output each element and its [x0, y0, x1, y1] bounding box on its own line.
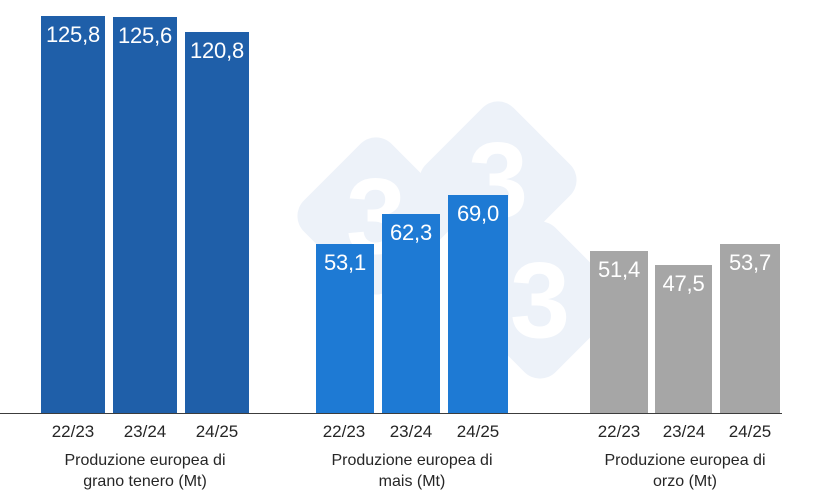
- bar-group-mais: 53,1 62,3 69,0: [316, 0, 508, 414]
- bar-value-label: 125,6: [113, 23, 177, 49]
- tick-label: 23/24: [113, 420, 177, 444]
- x-axis-line: [0, 413, 782, 414]
- bar-chart: 3 3 3 125,8 125,6 120,8 53,1 62,3: [0, 0, 820, 496]
- bar[interactable]: 47,5: [655, 265, 712, 414]
- group-caption-grano-tenero: Produzione europea di grano tenero (Mt): [25, 450, 265, 492]
- bar[interactable]: 53,1: [316, 244, 374, 414]
- bar-value-label: 47,5: [655, 271, 712, 297]
- bar[interactable]: 125,6: [113, 17, 177, 414]
- tick-label: 22/23: [587, 420, 651, 444]
- bar-value-label: 62,3: [382, 220, 440, 246]
- bar[interactable]: 120,8: [185, 32, 249, 414]
- tick-label: 22/23: [312, 420, 376, 444]
- bar-group-orzo: 51,4 47,5 53,7: [590, 0, 780, 414]
- tick-label: 22/23: [41, 420, 105, 444]
- bar[interactable]: 62,3: [382, 214, 440, 414]
- bar[interactable]: 69,0: [448, 195, 508, 414]
- bar[interactable]: 125,8: [41, 16, 105, 414]
- bar-value-label: 125,8: [41, 22, 105, 48]
- tick-label: 24/25: [185, 420, 249, 444]
- group-caption-orzo: Produzione europea di orzo (Mt): [565, 450, 805, 492]
- group-caption-line: Produzione europea di: [565, 450, 805, 471]
- group-caption-line: Produzione europea di: [25, 450, 265, 471]
- tick-label: 24/25: [718, 420, 782, 444]
- bar-value-label: 53,7: [720, 250, 780, 276]
- group-caption-line: mais (Mt): [292, 471, 532, 492]
- bar-value-label: 69,0: [448, 201, 508, 227]
- tick-label: 23/24: [652, 420, 716, 444]
- bar[interactable]: 53,7: [720, 244, 780, 414]
- bar[interactable]: 51,4: [590, 251, 648, 414]
- group-caption-mais: Produzione europea di mais (Mt): [292, 450, 532, 492]
- group-caption-line: Produzione europea di: [292, 450, 532, 471]
- group-captions: Produzione europea di grano tenero (Mt) …: [0, 450, 820, 496]
- bar-group-grano-tenero: 125,8 125,6 120,8: [41, 0, 249, 414]
- plot-area: 125,8 125,6 120,8 53,1 62,3 69,0 51,: [0, 0, 820, 414]
- bar-value-label: 51,4: [590, 257, 648, 283]
- tick-label: 24/25: [446, 420, 510, 444]
- x-axis-tick-labels: 22/23 23/24 24/25 22/23 23/24 24/25 22/2…: [0, 420, 820, 446]
- group-caption-line: orzo (Mt): [565, 471, 805, 492]
- tick-label: 23/24: [379, 420, 443, 444]
- group-caption-line: grano tenero (Mt): [25, 471, 265, 492]
- bar-value-label: 53,1: [316, 250, 374, 276]
- bar-value-label: 120,8: [185, 38, 249, 64]
